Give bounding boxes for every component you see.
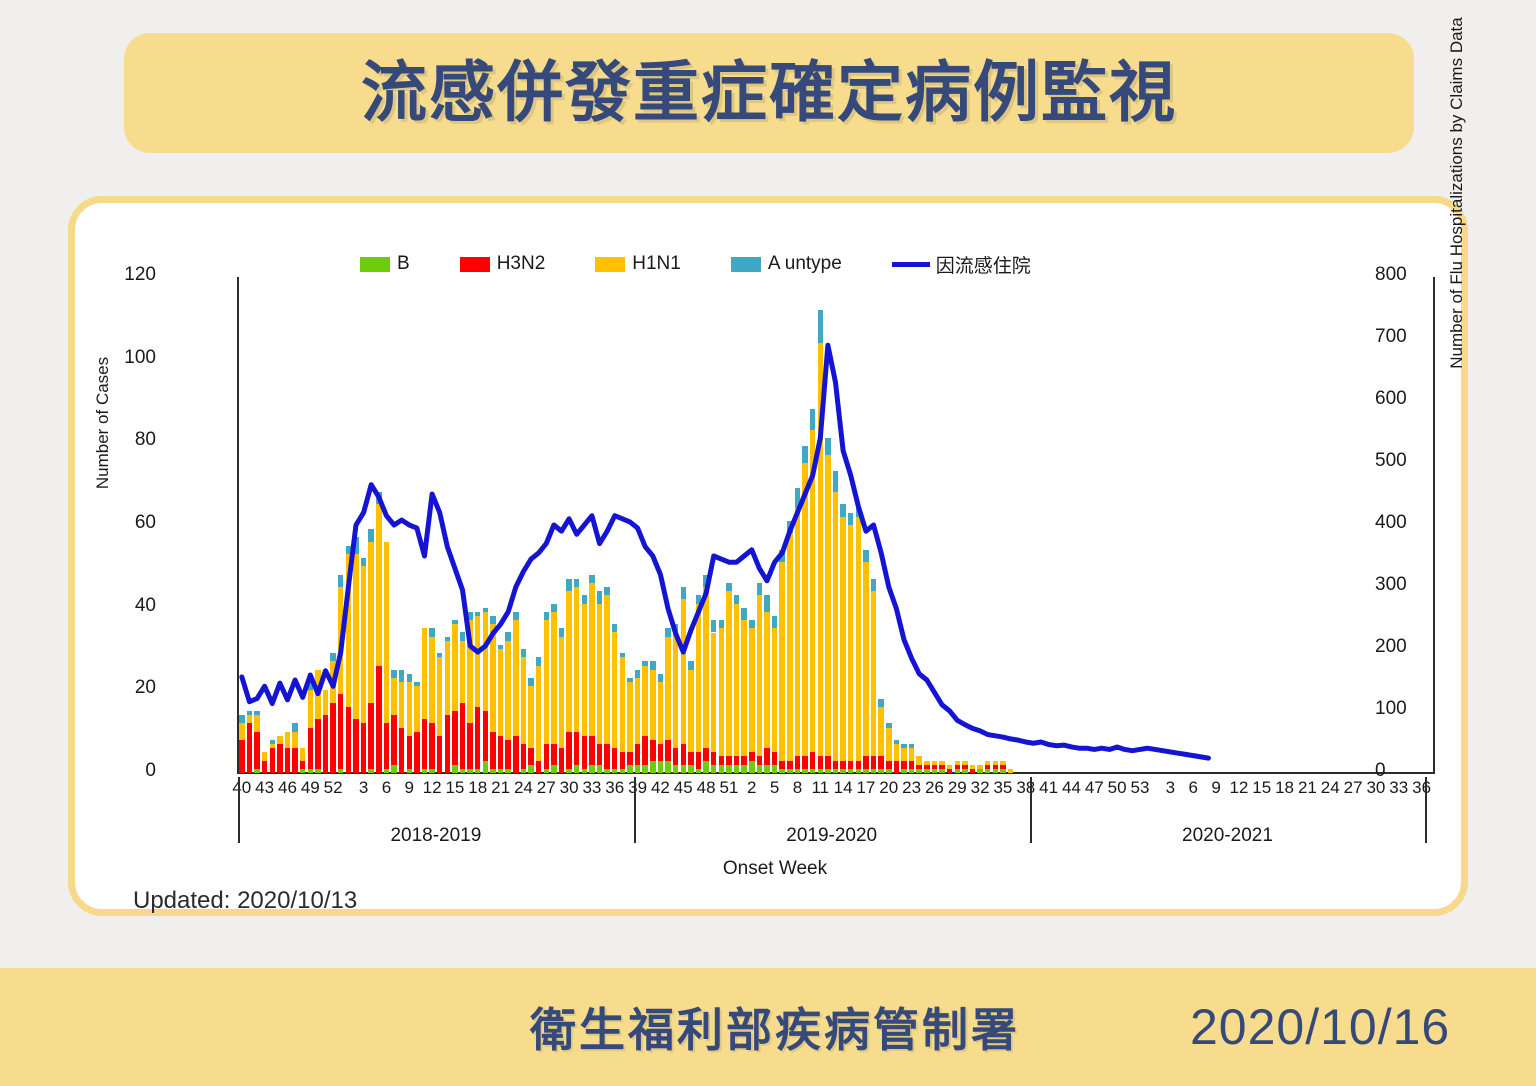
legend-line-swatch bbox=[892, 262, 930, 267]
legend-item-h3n2: H3N2 bbox=[460, 253, 546, 275]
x-tick-label: 15 bbox=[445, 778, 464, 798]
season-label-2019-2020: 2019-2020 bbox=[786, 825, 877, 847]
x-tick-label: 2 bbox=[747, 778, 756, 798]
season-divider bbox=[238, 777, 240, 843]
x-tick-label: 50 bbox=[1108, 778, 1127, 798]
x-tick-label: 6 bbox=[382, 778, 391, 798]
legend-color-swatch bbox=[731, 257, 761, 272]
x-tick-label: 9 bbox=[405, 778, 414, 798]
x-tick-label: 27 bbox=[1344, 778, 1363, 798]
x-tick-label: 11 bbox=[811, 778, 829, 798]
footer-bar: 衛生福利部疾病管制署 2020/10/16 bbox=[0, 968, 1536, 1086]
x-axis-title: Onset Week bbox=[75, 858, 1475, 880]
y-tick-left: 100 bbox=[96, 347, 156, 369]
legend-color-swatch bbox=[460, 257, 490, 272]
x-axis-tick-labels: 4043464952369121518212427303336394245485… bbox=[238, 778, 1433, 804]
x-tick-label: 48 bbox=[697, 778, 716, 798]
x-tick-label: 51 bbox=[719, 778, 738, 798]
legend-label: B bbox=[397, 253, 410, 275]
x-tick-label: 18 bbox=[1275, 778, 1294, 798]
x-tick-label: 47 bbox=[1085, 778, 1104, 798]
x-tick-label: 26 bbox=[925, 778, 944, 798]
x-tick-label: 5 bbox=[770, 778, 779, 798]
legend-item-因流感住院: 因流感住院 bbox=[892, 251, 1031, 278]
legend-label: H1N1 bbox=[632, 253, 681, 275]
chart-card: BH3N2H1N1A untype因流感住院 Number of Cases N… bbox=[68, 196, 1468, 916]
x-tick-label: 15 bbox=[1252, 778, 1271, 798]
x-tick-label: 43 bbox=[255, 778, 274, 798]
legend-color-swatch bbox=[360, 257, 390, 272]
x-tick-label: 9 bbox=[1211, 778, 1220, 798]
x-tick-label: 49 bbox=[301, 778, 320, 798]
x-tick-label: 41 bbox=[1039, 778, 1058, 798]
season-row: 2018-20192019-20202020-2021 bbox=[238, 803, 1433, 849]
x-tick-label: 23 bbox=[902, 778, 921, 798]
x-tick-label: 30 bbox=[1366, 778, 1385, 798]
season-divider bbox=[634, 777, 636, 843]
chart-legend: BH3N2H1N1A untype因流感住院 bbox=[360, 251, 1360, 277]
legend-item-a-untype: A untype bbox=[731, 253, 842, 275]
x-tick-label: 12 bbox=[423, 778, 442, 798]
y-tick-left: 120 bbox=[96, 264, 156, 286]
x-tick-label: 53 bbox=[1130, 778, 1149, 798]
y-axis-title-right: Number of Flu Hospitalizations by Claims… bbox=[1447, 3, 1467, 383]
updated-label: Updated: 2020/10/13 bbox=[133, 887, 357, 915]
x-tick-label: 33 bbox=[1389, 778, 1408, 798]
x-tick-label: 40 bbox=[232, 778, 251, 798]
x-tick-label: 20 bbox=[879, 778, 898, 798]
y-tick-left: 40 bbox=[96, 595, 156, 617]
x-tick-label: 29 bbox=[948, 778, 967, 798]
legend-color-swatch bbox=[595, 257, 625, 272]
x-tick-label: 35 bbox=[993, 778, 1012, 798]
x-tick-label: 3 bbox=[359, 778, 368, 798]
legend-label: H3N2 bbox=[497, 253, 546, 275]
season-divider bbox=[1030, 777, 1032, 843]
x-tick-label: 44 bbox=[1062, 778, 1081, 798]
season-label-2020-2021: 2020-2021 bbox=[1182, 825, 1273, 847]
x-tick-label: 24 bbox=[1321, 778, 1340, 798]
x-tick-label: 36 bbox=[1412, 778, 1431, 798]
x-tick-label: 30 bbox=[560, 778, 579, 798]
x-tick-label: 24 bbox=[514, 778, 533, 798]
hospitalization-line bbox=[238, 277, 1433, 773]
x-tick-label: 18 bbox=[468, 778, 487, 798]
x-tick-label: 36 bbox=[605, 778, 624, 798]
y-tick-left: 80 bbox=[96, 429, 156, 451]
y-tick-left: 0 bbox=[96, 760, 156, 782]
plot-area bbox=[238, 277, 1433, 773]
season-divider bbox=[1425, 777, 1427, 843]
x-tick-label: 46 bbox=[278, 778, 297, 798]
x-tick-label: 6 bbox=[1189, 778, 1198, 798]
x-tick-label: 21 bbox=[491, 778, 510, 798]
page-title: 流感併發重症確定病例監視 bbox=[361, 60, 1177, 126]
y-tick-left: 20 bbox=[96, 677, 156, 699]
x-tick-label: 14 bbox=[834, 778, 853, 798]
title-banner: 流感併發重症確定病例監視 bbox=[124, 33, 1414, 153]
x-tick-label: 33 bbox=[582, 778, 601, 798]
x-tick-label: 38 bbox=[1016, 778, 1035, 798]
x-tick-label: 39 bbox=[628, 778, 647, 798]
x-tick-label: 42 bbox=[651, 778, 670, 798]
x-tick-label: 3 bbox=[1166, 778, 1175, 798]
footer-organization: 衛生福利部疾病管制署 bbox=[530, 994, 1020, 1060]
legend-item-h1n1: H1N1 bbox=[595, 253, 681, 275]
legend-label: A untype bbox=[768, 253, 842, 275]
legend-label: 因流感住院 bbox=[936, 251, 1031, 278]
season-label-2018-2019: 2018-2019 bbox=[390, 825, 481, 847]
x-tick-label: 52 bbox=[324, 778, 343, 798]
x-tick-label: 45 bbox=[674, 778, 693, 798]
x-tick-label: 27 bbox=[537, 778, 556, 798]
x-tick-label: 8 bbox=[793, 778, 802, 798]
footer-date: 2020/10/16 bbox=[1190, 998, 1450, 1056]
y-tick-left: 60 bbox=[96, 512, 156, 534]
hospitalization-line-path bbox=[242, 345, 1209, 758]
x-tick-label: 32 bbox=[971, 778, 990, 798]
x-tick-label: 21 bbox=[1298, 778, 1317, 798]
x-tick-label: 12 bbox=[1229, 778, 1248, 798]
legend-item-b: B bbox=[360, 253, 410, 275]
x-tick-label: 17 bbox=[856, 778, 875, 798]
